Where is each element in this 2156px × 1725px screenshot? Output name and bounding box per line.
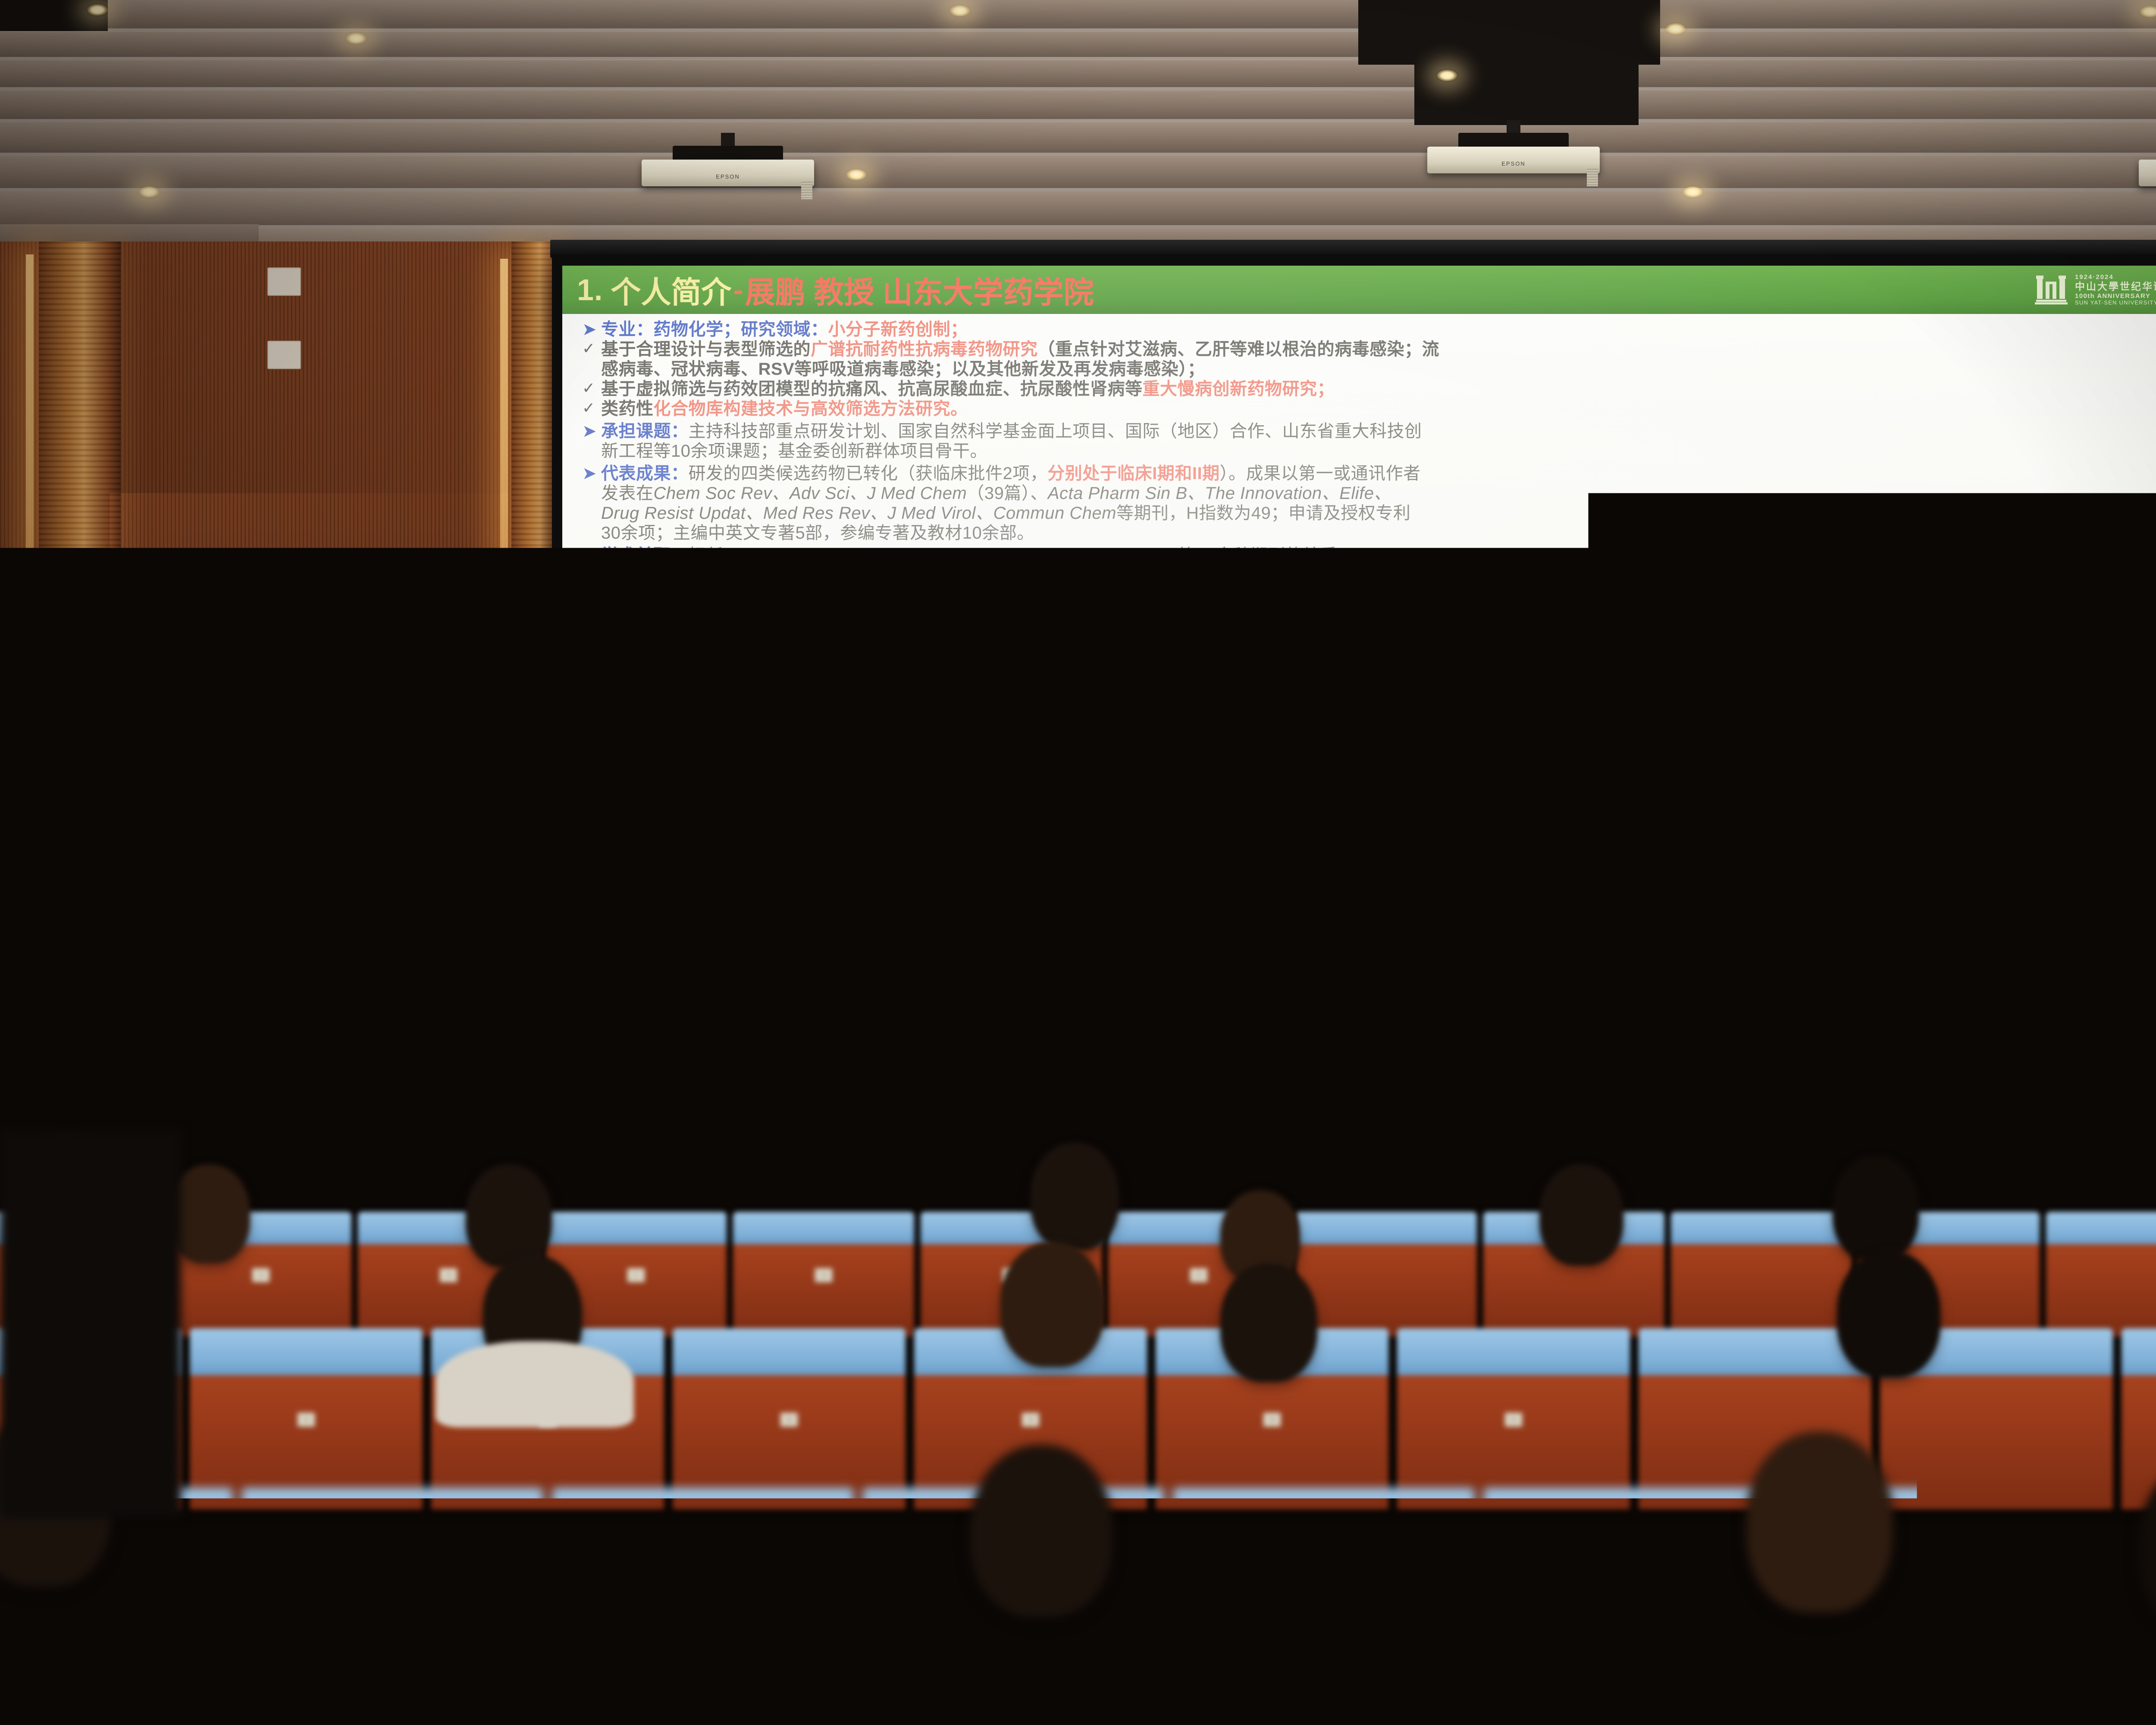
presentation-slide: 1. 个人简介 - 展鹏 教授 山东大学药学院 (562, 266, 2156, 939)
slide-line: Pharm Sin B、药学学报等期刊的青年编委；在Eur J Med Chem… (582, 567, 2156, 584)
slide-text: Research (601, 586, 677, 605)
lecture-hall-scene: EPSON EPSON EPSON (0, 0, 2156, 1725)
seat-number-plate: 16 (780, 1412, 798, 1427)
slide-text: 基于合理设计与表型筛选的 (601, 340, 811, 359)
audience-head (1220, 1264, 1317, 1382)
foreground-figure (0, 1130, 181, 1518)
arrow-bullet-icon: ➤ (582, 423, 601, 440)
ceiling (0, 0, 2156, 259)
slide-text: 化合物库构建技术与高效筛选方法研究。 (654, 399, 968, 418)
ceiling-light (345, 32, 367, 45)
slide-line: ➤ 学术兼职：担任J Med Chem、Curr Med Chem、Expert… (582, 547, 2156, 564)
wall-outlet-plate-center (1447, 1031, 1469, 1052)
slide-text: 药物化学； (654, 320, 741, 339)
seat-headrest (2122, 1328, 2156, 1375)
slide-line: ➤ 承担课题：主持科技部重点研发计划、国家自然科学基金面上项目、国际（地区）合作… (582, 423, 2156, 440)
seat-headrest (673, 1328, 906, 1375)
seat[interactable]: 16 (673, 1328, 906, 1509)
slide-text: 感病毒、冠状病毒、RSV等呼吸道病毒感染；以及其他新发及再发病毒感染）； (601, 360, 1205, 379)
slide-text: 、药学学报等期刊的青年编委；在 (700, 566, 962, 585)
slide-text: 等客座主持专刊10余次。 (677, 586, 871, 605)
slide-text: 等期刊，H指数为49；申请及授权专利 (1116, 504, 1410, 523)
slide-text: J Med Chem、Curr Med Chem、Expert Opin Dru… (724, 546, 1178, 565)
seat[interactable]: 12 (190, 1328, 423, 1509)
wood-column-left (39, 241, 121, 1160)
slide-text: 重大慢病创新药物研究； (1143, 379, 1335, 398)
slide-text: 教育部青年长江学者、山东省杰青 (689, 608, 951, 627)
slide-text: 类药性 (601, 399, 654, 418)
audience-head (466, 1164, 552, 1268)
slide-text: 学术兼职： (601, 546, 689, 565)
slide-text: Acta (1355, 546, 1391, 565)
projector-vent (1587, 167, 1598, 186)
ceiling-light (1664, 22, 1687, 35)
slide-text: 新工程等10余项课题；基金委创新群体项目骨干。 (601, 442, 987, 461)
sysu-en-name: SUN YAT-SEN UNIVERSITY (2075, 300, 2156, 306)
sysu-logo-text: 1924·2024 中山大學世纪华诞 100th ANNIVERSARY SUN… (2075, 273, 2156, 306)
speaker-presenter (328, 651, 500, 1220)
slide-text: 及 (1290, 628, 1308, 647)
seat-number-plate: 17 (627, 1268, 645, 1283)
projector-body: EPSON (2139, 160, 2156, 186)
slide-logo-zone: 1924·2024 中山大學世纪华诞 100th ANNIVERSARY SUN… (2036, 268, 2156, 312)
slide-line: 30余项；主编中英文专著5部，参编专著及教材10余部。 (582, 524, 2156, 542)
slide-text: 主持科技部重点研发计划、国家自然科学基金面上项目、国际（地区）合作、山东省重大科… (689, 422, 1422, 441)
slide-text: Acta Pharm Sin B、The Innovation、Elife、 (1048, 484, 1391, 503)
slide-line: ➤ 专业：药物化学；研究领域：小分子新药创制； (582, 321, 2156, 338)
slide-text: 分别处于临床I期和II期 (1047, 464, 1219, 483)
seat-number-plate: 12 (297, 1412, 315, 1427)
slide-line: 万科学家”榜单；入选全国药学专家学术影响力百强。 (582, 649, 2156, 666)
projector-brand-label: EPSON (2139, 173, 2156, 180)
seat-number-plate: 22 (1504, 1412, 1523, 1427)
speaker-leg-split (410, 1052, 414, 1195)
seat-headrest (552, 1488, 854, 1551)
audience-head (1000, 1242, 1104, 1367)
projector-vent (801, 180, 812, 199)
audience-head (1746, 1432, 1893, 1613)
slide-line: ➤ 获奖荣誉：教育部青年长江学者、山东省杰青、山东大学杰出中青年学者；获中国药学… (582, 609, 2156, 626)
projection-screen: 1. 个人简介 - 展鹏 教授 山东大学药学院 (552, 254, 2156, 957)
seat-headrest (241, 1488, 543, 1551)
slide-text: 山东高校优秀科研成果奖、国际抗病毒会议旅费奖等。连续多年入选 (601, 628, 1125, 647)
slide-text: （39篇）、 (967, 484, 1048, 503)
slide-line: Drug Resist Updat、Med Res Rev、J Med Viro… (582, 505, 2156, 522)
slide-text: Pharm Sin B (601, 566, 700, 585)
sysu-anniversary-line: 100th ANNIVERSARY (2075, 292, 2156, 300)
wood-wall-panel-below-screen (474, 962, 2156, 1164)
wall-light-strip-mid-left (500, 259, 508, 1160)
slide-title-main: 个人简介 (611, 268, 731, 312)
seat[interactable] (1671, 1212, 1852, 1337)
seat[interactable]: 22 (1397, 1328, 1630, 1509)
projector-right: EPSON (2139, 142, 2156, 190)
audience-head (1031, 1143, 1119, 1251)
slide-title-accent: 展鹏 教授 山东大学药学院 (745, 268, 1094, 312)
seat-number-plate: 18 (1022, 1412, 1040, 1427)
slide-text: 代表成果： (601, 464, 689, 483)
seat[interactable] (552, 1488, 854, 1725)
wall-outlet-plate-left-lower (267, 341, 301, 369)
seat-headrest (733, 1212, 914, 1244)
handout-paper (2018, 1475, 2061, 1498)
slide-text: “全球顶尖前10 (1307, 628, 1423, 647)
check-bullet-icon: ✓ (582, 400, 601, 416)
handout-paper (1673, 1596, 1759, 1639)
university-gate-icon (2036, 276, 2069, 304)
microphone-head-icon (398, 773, 417, 793)
slide-text: 获奖荣誉： (601, 608, 689, 627)
speaker-right-arm (443, 759, 485, 931)
slide-line: 发表在Chem Soc Rev、Adv Sci、J Med Chem（39篇）、… (582, 485, 2156, 502)
slide-text: 专业： (601, 320, 654, 339)
seat-number-plate: 23 (1190, 1268, 1208, 1283)
seat-headrest (1483, 1488, 1785, 1551)
slide-text: 广谱抗耐药性抗病毒药物研究 (811, 340, 1038, 359)
slide-line: 新工程等10余项课题；基金委创新群体项目骨干。 (582, 442, 2156, 460)
slide-text: Drug Resist Updat、Med Res Rev、J Med Viro… (601, 504, 1116, 523)
speaker-left-arm (342, 759, 377, 944)
slide-line: 感病毒、冠状病毒、RSV等呼吸道病毒感染；以及其他新发及再发病毒感染）； (582, 361, 2156, 378)
slide-text: 30余项；主编中英文专著5部，参编专著及教材10余部。 (601, 524, 1034, 543)
audience-head (1837, 1251, 1940, 1378)
slide-text: 小分子新药创制； (828, 320, 968, 339)
seat[interactable] (2122, 1328, 2156, 1509)
slide-text: 研发的四类候选药物已转化（获临床批件2项， (689, 464, 1048, 483)
seat-headrest (1173, 1488, 1475, 1551)
seat-headrest (1671, 1212, 1852, 1244)
seat-headrest (545, 1212, 727, 1244)
check-bullet-icon: ✓ (582, 341, 601, 356)
slide-line: ✓ 类药性化合物库构建技术与高效筛选方法研究。 (582, 400, 2156, 417)
handout-paper (1682, 1522, 1738, 1552)
slide-text: 等10余种期刊的编委， (1178, 546, 1355, 565)
audience-head (1539, 1164, 1623, 1266)
seat-headrest (2046, 1212, 2156, 1244)
slide-text: 研究领域： (741, 320, 828, 339)
seat[interactable] (2046, 1212, 2156, 1337)
seat[interactable]: 19 (733, 1212, 914, 1337)
slide-title-bar: 1. 个人简介 - 展鹏 教授 山东大学药学院 (562, 266, 2156, 314)
arrow-bullet-icon: ➤ (582, 547, 601, 564)
slide-text: 承担课题： (601, 422, 689, 441)
projector-left: EPSON (642, 142, 814, 190)
ceiling-light (1436, 69, 1458, 82)
slide-text: ）。成果以第一或通讯作者 (1220, 464, 1421, 483)
slide-text: ；入选全国药学专家学术影响力百强。 (715, 648, 1012, 667)
ceiling-light (845, 168, 868, 181)
slide-title-dash: - (733, 273, 743, 307)
projector-body: EPSON (1427, 147, 1600, 173)
seat-headrest (190, 1328, 423, 1375)
slide-text: 发表在 (601, 484, 654, 503)
projector-body: EPSON (642, 160, 814, 186)
seat-number-plate (1313, 1596, 1335, 1614)
wall-outlet-plate-left (267, 267, 301, 296)
audience-head (1833, 1156, 1919, 1261)
seat-number-plate: 19 (815, 1268, 833, 1283)
ceiling-light (949, 4, 971, 17)
ceiling-light (1682, 185, 1704, 198)
projector-brand-label: EPSON (642, 173, 814, 180)
speaker-name-badge (398, 816, 433, 841)
arrow-bullet-icon: ➤ (582, 465, 601, 482)
seat-headrest (1639, 1328, 1871, 1375)
slide-line: ✓ 基于合理设计与表型筛选的广谱抗耐药性抗病毒药物研究（重点针对艾滋病、乙肝等难… (582, 341, 2156, 358)
seat-number-plate (381, 1596, 404, 1614)
slide-line: 山东高校优秀科研成果奖、国际抗病毒会议旅费奖等。连续多年入选全球前2%科学家榜单… (582, 629, 2156, 646)
speaker-shoe (369, 1190, 421, 1210)
projector-center: EPSON (1427, 129, 1600, 177)
sysu-centenary-logo: 1924·2024 中山大學世纪华诞 100th ANNIVERSARY SUN… (2036, 273, 2156, 306)
seat-headrest (1296, 1212, 1477, 1244)
slide-text: 全球前2%科学家榜单 (1125, 628, 1290, 647)
slide-text: Chem Soc Rev、Adv Sci、J Med Chem (654, 484, 967, 503)
seat-number-plate: 20 (1263, 1412, 1281, 1427)
slide-line: Research等客座主持专刊10余次。 (582, 586, 2156, 604)
projector-brand-label: EPSON (1427, 160, 1600, 167)
ceiling-light (86, 3, 109, 16)
seat-number-plate: 13 (252, 1268, 270, 1283)
slide-text: Eur J Med Chem、Drug Discov Today、Pharmac… (962, 566, 1409, 585)
seat[interactable] (1173, 1488, 1475, 1725)
audience-shoulders (436, 1341, 634, 1427)
slide-text: （重点针对艾滋病、乙肝等难以根治的病毒感染；流 (1038, 340, 1440, 359)
seat-headrest (1397, 1328, 1630, 1375)
speaker-glasses (380, 689, 434, 699)
slide-text: 基于虚拟筛选与药效团模型的抗痛风、抗高尿酸血症、抗尿酸性肾病等 (601, 379, 1143, 398)
slide-text: 担任 (689, 546, 724, 565)
slide-text: 万科学家”榜单 (601, 648, 715, 667)
seat-number-plate: 15 (439, 1268, 458, 1283)
ceiling-light (138, 185, 160, 198)
wall-light-strip-left (26, 254, 34, 1117)
arrow-bullet-icon: ➤ (582, 321, 601, 338)
sysu-cn-name: 中山大學世纪华诞 (2075, 281, 2156, 292)
slide-body: ➤ 专业：药物化学；研究领域：小分子新药创制； ✓ 基于合理设计与表型筛选的广谱… (562, 314, 2156, 666)
slide-line: ✓ 基于虚拟筛选与药效团模型的抗痛风、抗高尿酸血症、抗尿酸性肾病等重大慢病创新药… (582, 380, 2156, 398)
arrow-bullet-icon: ➤ (582, 609, 601, 626)
seat[interactable] (1296, 1212, 1477, 1337)
sysu-years: 1924·2024 (2075, 273, 2156, 281)
slide-line: ➤ 代表成果：研发的四类候选药物已转化（获临床批件2项，分别处于临床I期和II期… (582, 465, 2156, 482)
slide-title-number: 1. (577, 273, 603, 307)
check-bullet-icon: ✓ (582, 380, 601, 396)
slide-text: 、山东大学杰出中青年学者；获中国药学会青年药物化学奖、 (950, 608, 1422, 627)
seat[interactable] (241, 1488, 543, 1725)
audience-head (970, 1445, 1112, 1617)
